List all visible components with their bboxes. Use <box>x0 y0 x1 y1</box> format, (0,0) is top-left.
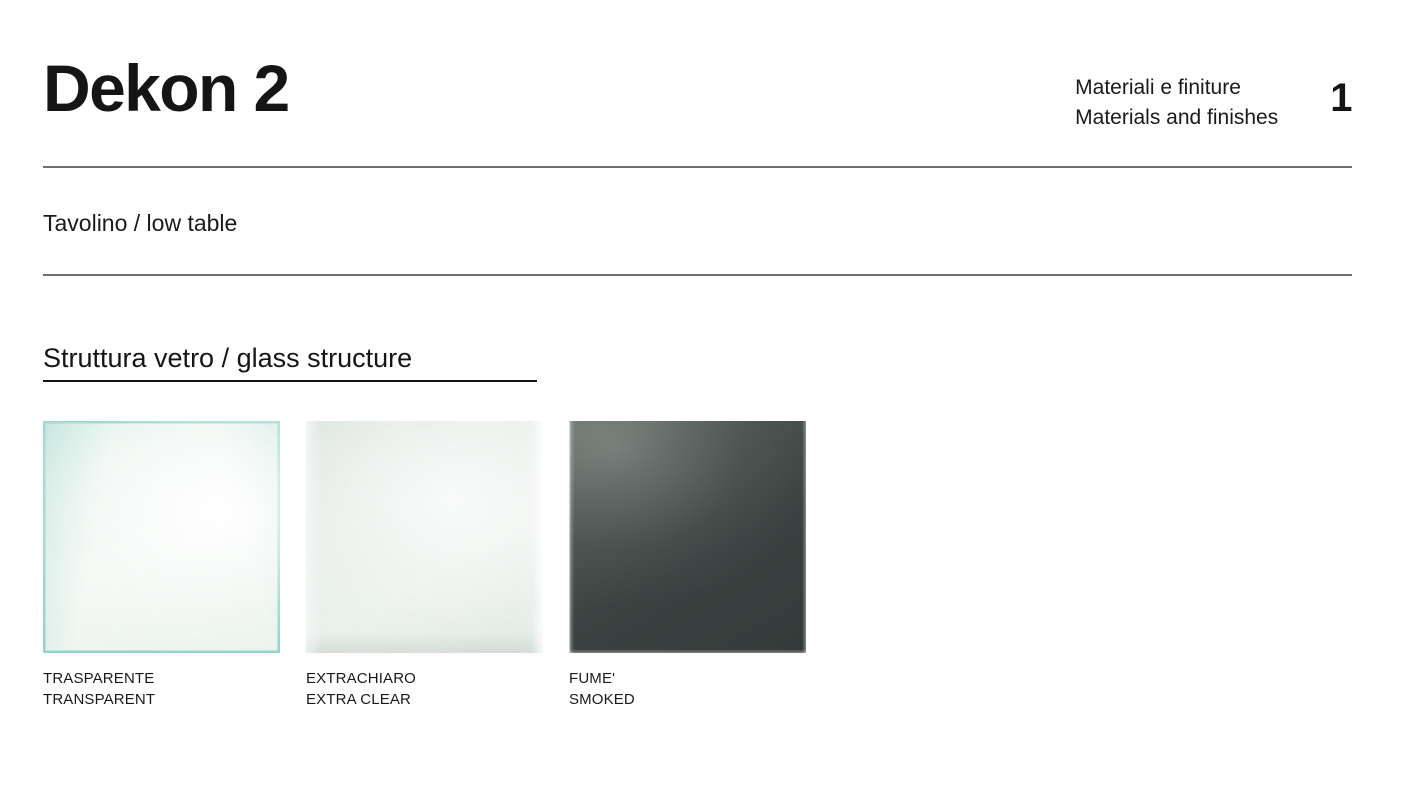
swatch-name-en: EXTRA CLEAR <box>306 689 543 710</box>
glass-sheen-overlay <box>43 421 280 653</box>
swatch-sample-transparent[interactable] <box>43 421 280 653</box>
swatch-name-it: TRASPARENTE <box>43 668 280 689</box>
swatch-label-transparent: TRASPARENTE TRANSPARENT <box>43 668 280 710</box>
section-title: Struttura vetro / glass structure <box>43 340 537 376</box>
header-meta-line-it: Materiali e finiture <box>1075 73 1278 103</box>
swatch-name-en: TRANSPARENT <box>43 689 280 710</box>
swatch-name-it: EXTRACHIARO <box>306 668 543 689</box>
page-header: Dekon 2 Materiali e finiture Materials a… <box>43 55 1352 160</box>
header-meta: Materiali e finiture Materials and finis… <box>1075 73 1278 133</box>
header-meta-line-en: Materials and finishes <box>1075 103 1278 133</box>
swatch-name-en: SMOKED <box>569 689 806 710</box>
product-subtitle: Tavolino / low table <box>43 208 237 238</box>
catalog-page: Dekon 2 Materiali e finiture Materials a… <box>0 0 1406 794</box>
swatch-row: TRASPARENTE TRANSPARENT EXTRACHIARO EXTR… <box>43 421 806 710</box>
divider-middle <box>43 274 1352 276</box>
swatch-name-it: FUME' <box>569 668 806 689</box>
swatch-sample-smoked[interactable] <box>569 421 806 653</box>
swatch-item-transparent[interactable]: TRASPARENTE TRANSPARENT <box>43 421 280 710</box>
page-title: Dekon 2 <box>43 55 289 121</box>
swatch-item-smoked[interactable]: FUME' SMOKED <box>569 421 806 710</box>
header-meta-group: Materiali e finiture Materials and finis… <box>1075 73 1352 133</box>
swatch-sample-extra-clear[interactable] <box>306 421 543 653</box>
swatch-item-extra-clear[interactable]: EXTRACHIARO EXTRA CLEAR <box>306 421 543 710</box>
glass-sheen-overlay <box>306 421 543 653</box>
page-number: 1 <box>1330 73 1352 123</box>
section-underline <box>43 380 537 382</box>
section-header: Struttura vetro / glass structure <box>43 340 537 382</box>
divider-top <box>43 166 1352 168</box>
glass-sheen-overlay <box>569 421 806 653</box>
swatch-label-smoked: FUME' SMOKED <box>569 668 806 710</box>
swatch-label-extra-clear: EXTRACHIARO EXTRA CLEAR <box>306 668 543 710</box>
